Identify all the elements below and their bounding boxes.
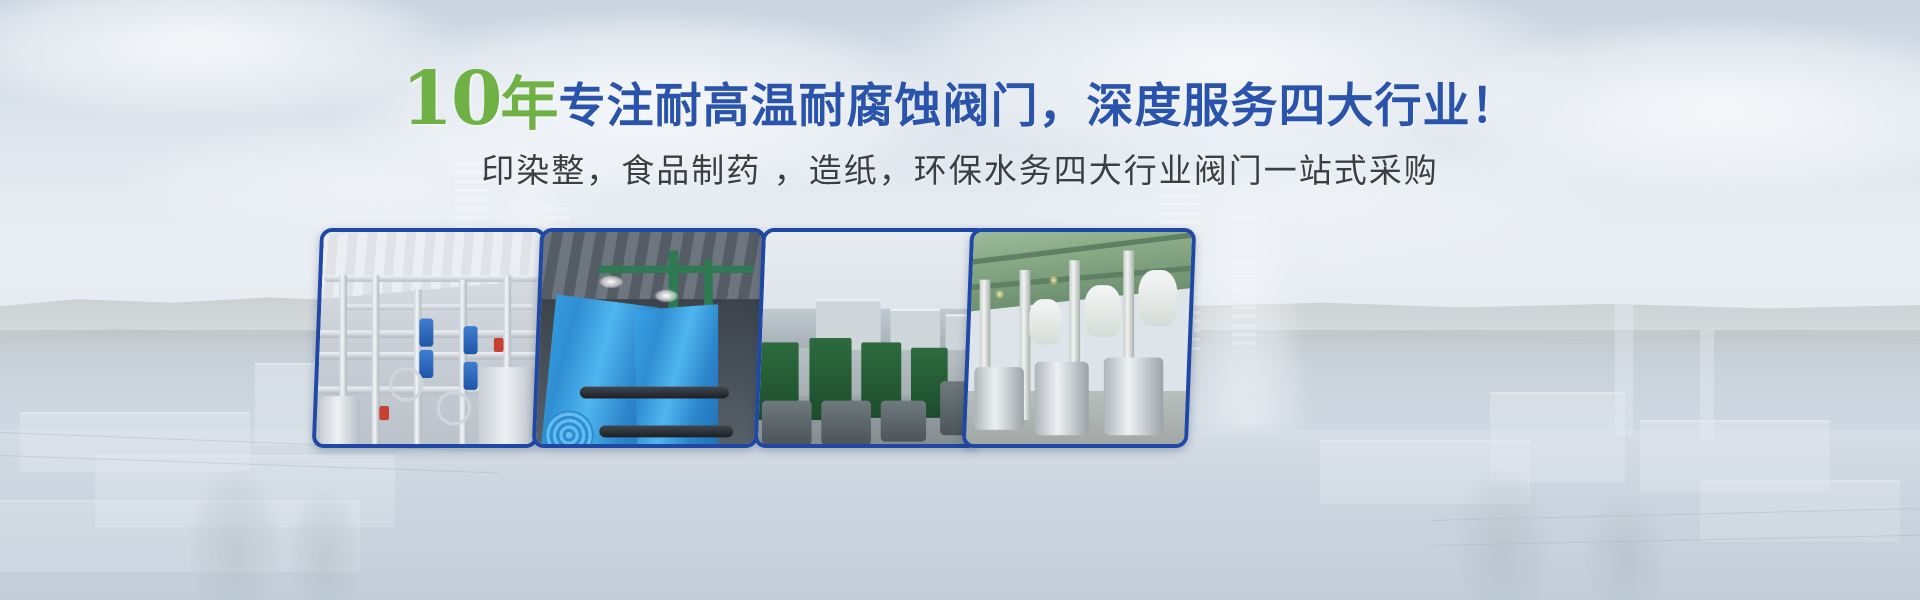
white-bag — [1084, 285, 1121, 337]
photo-4-content — [962, 228, 1196, 448]
drum — [1104, 357, 1164, 434]
tank-vat — [881, 401, 926, 442]
pipe — [372, 275, 380, 448]
indicator — [379, 406, 389, 420]
headline-years-number: 10 — [402, 56, 501, 142]
promo-banner: 10年专注耐高温耐腐蚀阀门，深度服务四大行业！ 印染整，食品制药 ，造纸，环保水… — [0, 0, 1920, 600]
ceiling-lamp — [654, 290, 678, 303]
white-bag — [1139, 270, 1178, 326]
photo-thumbnail-2[interactable] — [532, 228, 766, 448]
tank-vat — [762, 401, 812, 445]
headline-years: 10年 — [402, 56, 559, 142]
lamp — [995, 290, 1005, 300]
roof — [532, 228, 766, 299]
blue-valve — [419, 350, 433, 378]
hand-wheel — [389, 367, 424, 402]
machinery-yard-image — [754, 228, 988, 448]
tank — [479, 367, 539, 448]
drum — [975, 367, 1025, 430]
pipework-plant-image — [312, 228, 546, 448]
blue-valve — [464, 362, 478, 390]
headline: 10年专注耐高温耐腐蚀阀门，深度服务四大行业！ — [0, 62, 1920, 136]
photo-thumbnail-1[interactable] — [312, 228, 546, 448]
drum — [1034, 362, 1089, 435]
blue-valve — [419, 319, 433, 347]
headline-main-text: 专注耐高温耐腐蚀阀门，深度服务四大行业！ — [559, 79, 1519, 134]
photo-thumbnail-4[interactable] — [962, 228, 1196, 448]
mill-hall-image — [962, 228, 1196, 448]
fabric-roller — [579, 386, 728, 398]
blue-valve — [464, 326, 478, 354]
indicator — [494, 338, 504, 352]
photo-3-content — [754, 228, 988, 448]
green-beam — [599, 265, 753, 273]
textile-dyeing-image — [532, 228, 766, 448]
hand-wheel — [436, 391, 471, 426]
ceiling-lamp — [599, 275, 623, 288]
photo-strip — [300, 228, 1480, 446]
headline-years-unit: 年 — [500, 70, 558, 138]
photo-2-content — [532, 228, 766, 448]
tank-vat — [821, 401, 871, 445]
tank — [320, 396, 360, 448]
white-bag — [1029, 299, 1061, 344]
fabric-roller — [599, 425, 733, 437]
subheadline: 印染整，食品制药 ，造纸，环保水务四大行业阀门一站式采购 — [0, 144, 1920, 192]
photo-thumbnail-3[interactable] — [754, 228, 988, 448]
photo-1-content — [312, 228, 546, 448]
